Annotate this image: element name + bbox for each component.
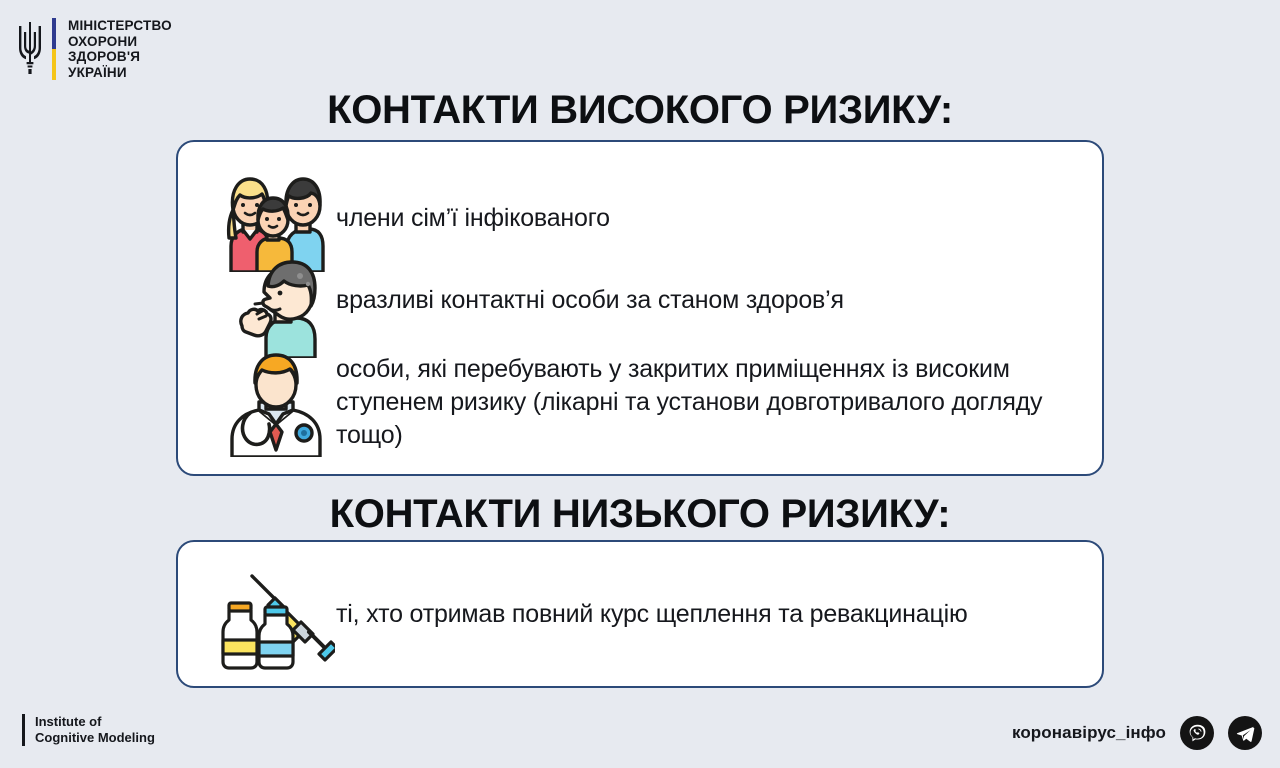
ministry-line-2: ОХОРОНИ	[68, 34, 172, 50]
high-risk-item-2: вразливі контактні особи за станом здоро…	[216, 252, 1086, 358]
ministry-logo: МІНІСТЕРСТВО ОХОРОНИ ЗДОРОВ'Я УКРАЇНИ	[16, 18, 172, 80]
ministry-line-3: ЗДОРОВ'Я	[68, 49, 172, 65]
social-links: коронавірус_інфо	[1012, 716, 1262, 750]
low-risk-item-1-text: ті, хто отримав повний курс щеплення та …	[336, 570, 968, 631]
vaccine-syringe-icon	[216, 570, 336, 670]
viber-icon[interactable]	[1180, 716, 1214, 750]
low-risk-item-1: ті, хто отримав повний курс щеплення та …	[216, 570, 1086, 670]
high-risk-item-3-text: особи, які перебувають у закритих приміщ…	[336, 347, 1096, 452]
high-risk-item-1-text: члени сім’ї інфікованого	[336, 160, 610, 235]
ministry-line-4: УКРАЇНИ	[68, 65, 172, 81]
high-risk-card: члени сім’ї інфікованого	[176, 140, 1104, 476]
ministry-logo-text: МІНІСТЕРСТВО ОХОРОНИ ЗДОРОВ'Я УКРАЇНИ	[68, 18, 172, 80]
social-handle: коронавірус_інфо	[1012, 723, 1166, 743]
coughing-person-icon	[216, 252, 336, 358]
doctor-icon	[216, 347, 336, 457]
institute-line-2: Cognitive Modeling	[35, 730, 155, 746]
infographic-page: МІНІСТЕРСТВО ОХОРОНИ ЗДОРОВ'Я УКРАЇНИ КО…	[0, 0, 1280, 768]
institute-line-1: Institute of	[35, 714, 155, 730]
low-risk-heading: КОНТАКТИ НИЗЬКОГО РИЗИКУ:	[0, 492, 1280, 537]
institute-divider	[22, 714, 25, 746]
high-risk-heading: КОНТАКТИ ВИСОКОГО РИЗИКУ:	[0, 88, 1280, 133]
ministry-line-1: МІНІСТЕРСТВО	[68, 18, 172, 34]
high-risk-item-3: особи, які перебувають у закритих приміщ…	[216, 347, 1096, 457]
telegram-icon[interactable]	[1228, 716, 1262, 750]
low-risk-card: ті, хто отримав повний курс щеплення та …	[176, 540, 1104, 688]
ukraine-trident-icon	[16, 18, 44, 80]
institute-credit: Institute of Cognitive Modeling	[22, 714, 155, 746]
logo-divider-bars	[52, 18, 56, 80]
high-risk-item-2-text: вразливі контактні особи за станом здоро…	[336, 252, 844, 317]
